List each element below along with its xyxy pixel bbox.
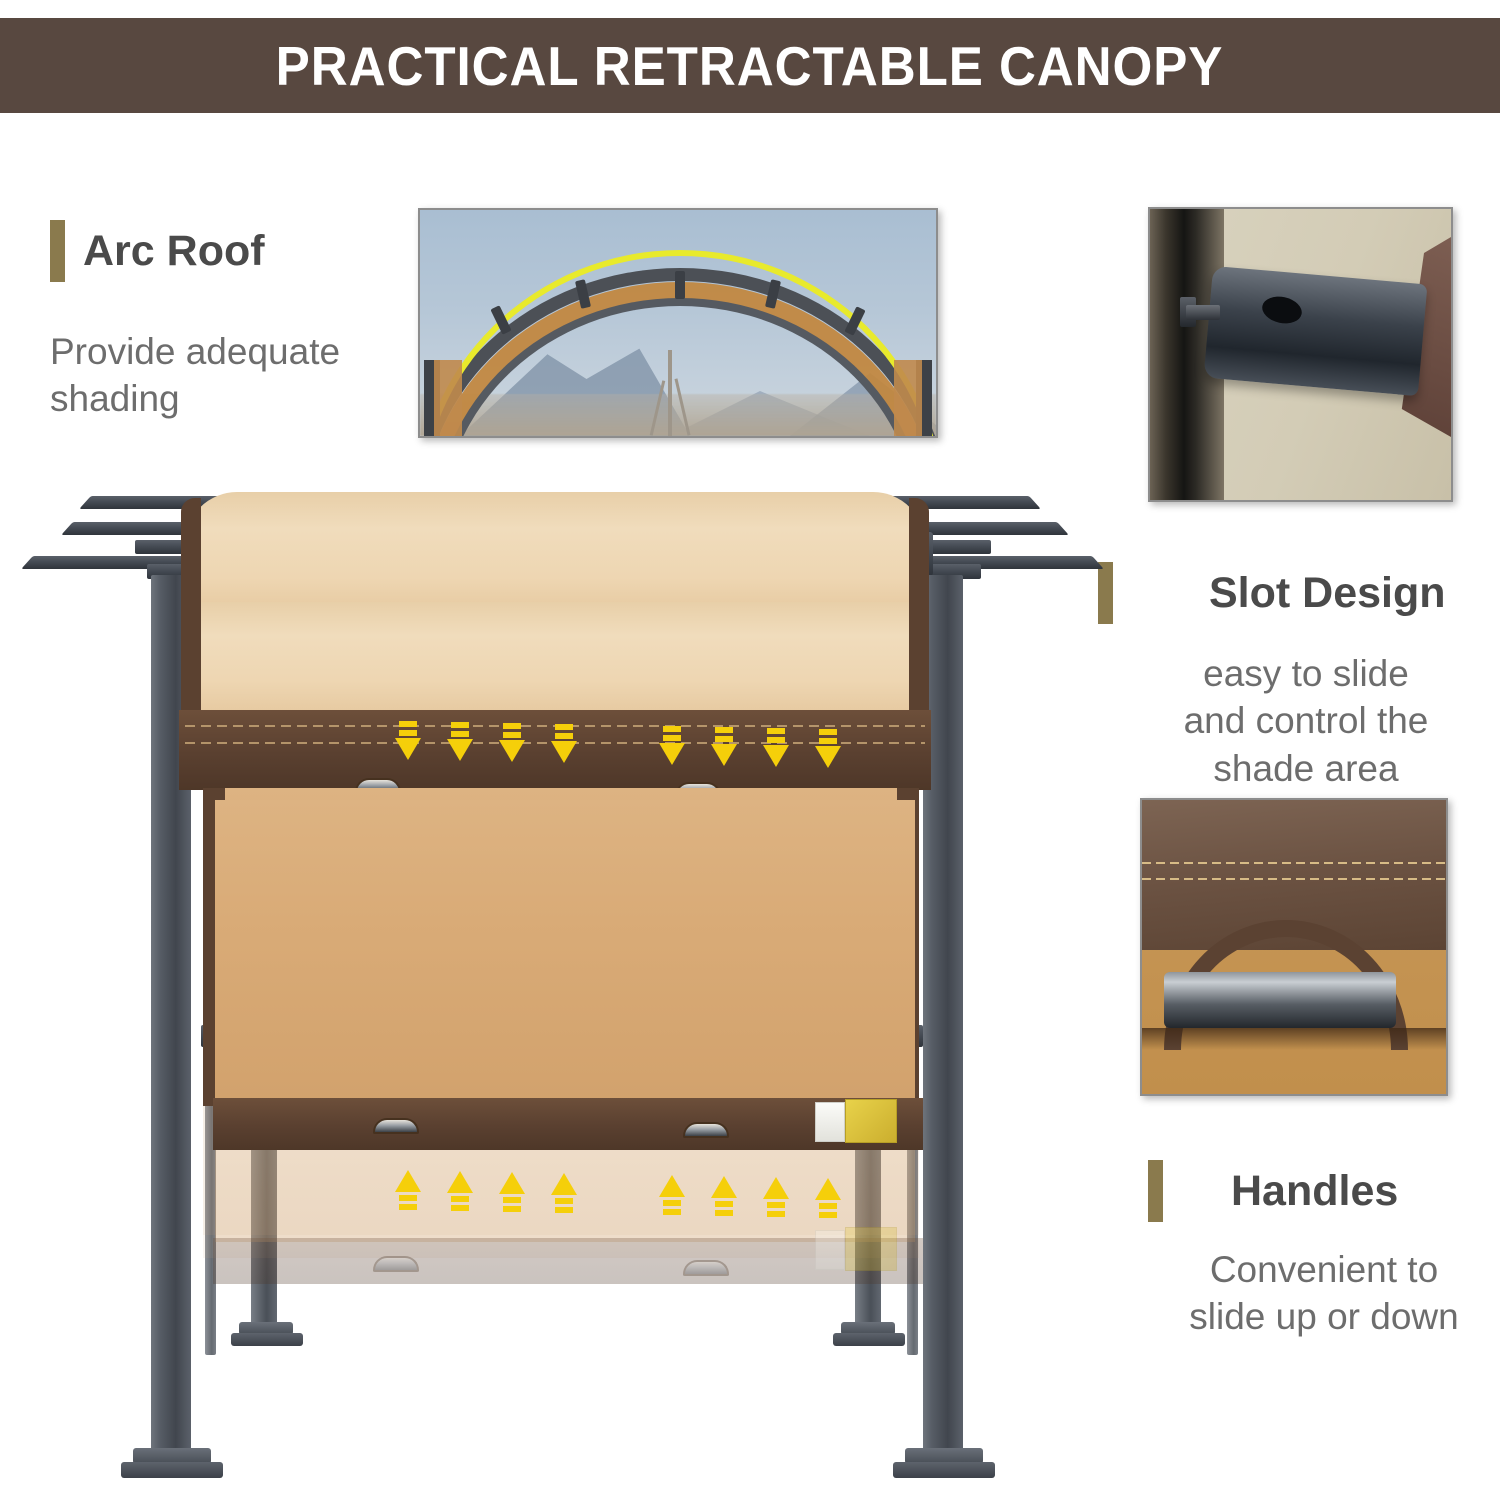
arrow-dashes bbox=[395, 1195, 421, 1210]
arrow-dashes bbox=[499, 723, 525, 738]
bolt-shaft bbox=[1186, 305, 1220, 320]
side-curtain bbox=[894, 360, 922, 438]
accent-bar-icon bbox=[1098, 562, 1113, 624]
feature-block-slot-design: Slot Design easy to slide and control th… bbox=[1098, 562, 1498, 792]
arrow-head bbox=[499, 740, 525, 762]
feature-body-handles: Convenient to slide up or down bbox=[1148, 1246, 1500, 1341]
feature-block-handles: Handles Convenient to slide up or down bbox=[1148, 1160, 1500, 1341]
arrow-dashes bbox=[711, 727, 737, 742]
feature-title-handles: Handles bbox=[1231, 1170, 1398, 1213]
direction-arrow-up bbox=[447, 1171, 473, 1211]
canopy-edge-band-left bbox=[181, 498, 201, 714]
feature-body-line: shading bbox=[50, 375, 410, 422]
arrow-dashes bbox=[815, 729, 841, 744]
accent-bar-icon bbox=[50, 220, 65, 282]
post-base-plate bbox=[231, 1333, 303, 1346]
arrow-dashes bbox=[447, 1196, 473, 1211]
direction-arrow-up bbox=[659, 1175, 685, 1215]
direction-arrow-up bbox=[551, 1173, 577, 1213]
direction-arrow-down bbox=[447, 719, 473, 761]
feature-title-slot-design: Slot Design bbox=[1209, 572, 1446, 615]
direction-arrow-down bbox=[763, 725, 789, 767]
yellow-hang-tag bbox=[845, 1099, 897, 1143]
stitch-line bbox=[1142, 862, 1446, 864]
arrow-dashes bbox=[711, 1201, 737, 1216]
white-label-tag bbox=[815, 1102, 845, 1142]
arrow-head bbox=[659, 743, 685, 765]
arrow-head bbox=[711, 1176, 737, 1198]
arc-roof-photo bbox=[418, 208, 938, 438]
arc-clip-icon bbox=[675, 271, 685, 299]
canopy-ghost-slot bbox=[373, 1256, 419, 1272]
feature-heading-row: Arc Roof bbox=[50, 220, 410, 282]
arrow-head bbox=[815, 746, 841, 768]
arrow-head bbox=[815, 1178, 841, 1200]
arrow-dashes bbox=[763, 1202, 789, 1217]
arrow-dashes bbox=[815, 1203, 841, 1218]
arrow-head bbox=[711, 744, 737, 766]
accent-bar-icon bbox=[1148, 1160, 1163, 1222]
canopy-main-curtain bbox=[215, 800, 915, 1100]
direction-arrow-up bbox=[499, 1172, 525, 1212]
feature-body-slot-design: easy to slide and control the shade area bbox=[1098, 650, 1498, 792]
arrow-head bbox=[659, 1175, 685, 1197]
white-label-tag-ghost bbox=[815, 1230, 845, 1270]
slot-handle-photo bbox=[1140, 798, 1448, 1096]
feature-heading-row: Handles bbox=[1148, 1160, 1500, 1222]
canopy-slot-handle bbox=[683, 1122, 729, 1138]
arrow-head bbox=[763, 1177, 789, 1199]
arrow-head bbox=[763, 745, 789, 767]
direction-arrow-down bbox=[711, 724, 737, 766]
direction-arrow-up bbox=[815, 1178, 841, 1218]
feature-body-line: easy to slide bbox=[1114, 650, 1498, 697]
product-illustration bbox=[55, 470, 1065, 1500]
shadow-band bbox=[1142, 1028, 1446, 1050]
slide-rod-photo bbox=[1148, 207, 1453, 502]
arrow-dashes bbox=[499, 1197, 525, 1212]
arrow-head bbox=[551, 1173, 577, 1195]
arrow-dashes bbox=[395, 721, 421, 736]
canopy-ghost-slot bbox=[683, 1260, 729, 1276]
page-title: PRACTICAL RETRACTABLE CANOPY bbox=[276, 34, 1224, 98]
direction-arrow-up bbox=[763, 1177, 789, 1217]
feature-body-line: Convenient to bbox=[1148, 1246, 1500, 1293]
arrow-dashes bbox=[551, 1198, 577, 1213]
arrow-head bbox=[395, 738, 421, 760]
arrow-head bbox=[395, 1170, 421, 1192]
feature-title-arc-roof: Arc Roof bbox=[83, 230, 265, 273]
post-base-plate bbox=[893, 1462, 995, 1478]
stitch-line bbox=[1142, 878, 1446, 880]
slide-rod-tube bbox=[1204, 266, 1428, 396]
canopy-top-panel bbox=[185, 492, 925, 614]
arrow-dashes bbox=[659, 726, 685, 741]
canopy-slot-handle bbox=[373, 1118, 419, 1134]
arrow-head bbox=[447, 1171, 473, 1193]
pergola-post-front-right bbox=[923, 575, 963, 1455]
canopy-edge-band-right bbox=[909, 498, 929, 714]
feature-body-line: and control the bbox=[1114, 697, 1498, 744]
direction-arrow-down bbox=[551, 721, 577, 763]
feature-body-line: shade area bbox=[1114, 745, 1498, 792]
metal-rod-handle bbox=[1164, 972, 1396, 1028]
header-banner: PRACTICAL RETRACTABLE CANOPY bbox=[0, 18, 1500, 113]
post-base-plate bbox=[121, 1462, 223, 1478]
arrow-head bbox=[551, 741, 577, 763]
post-base-plate bbox=[833, 1333, 905, 1346]
arrow-dashes bbox=[551, 724, 577, 739]
direction-arrow-down bbox=[395, 718, 421, 760]
direction-arrow-down bbox=[499, 720, 525, 762]
arrow-dashes bbox=[659, 1200, 685, 1215]
feature-body-line: Provide adequate bbox=[50, 328, 410, 375]
arrow-head bbox=[447, 739, 473, 761]
arrow-head bbox=[499, 1172, 525, 1194]
feature-body-line: slide up or down bbox=[1148, 1293, 1500, 1340]
direction-arrow-down bbox=[659, 723, 685, 765]
yellow-hang-tag-ghost bbox=[845, 1227, 897, 1271]
feature-block-arc-roof: Arc Roof Provide adequate shading bbox=[50, 220, 410, 423]
arrow-dashes bbox=[763, 728, 789, 743]
canopy-top-panel-lower bbox=[187, 602, 923, 714]
arrow-dashes bbox=[447, 722, 473, 737]
direction-arrow-down bbox=[815, 726, 841, 768]
direction-arrow-up bbox=[711, 1176, 737, 1216]
feature-body-arc-roof: Provide adequate shading bbox=[50, 328, 410, 423]
side-curtain bbox=[434, 360, 462, 438]
feature-heading-row: Slot Design bbox=[1098, 562, 1498, 624]
direction-arrow-up bbox=[395, 1170, 421, 1210]
